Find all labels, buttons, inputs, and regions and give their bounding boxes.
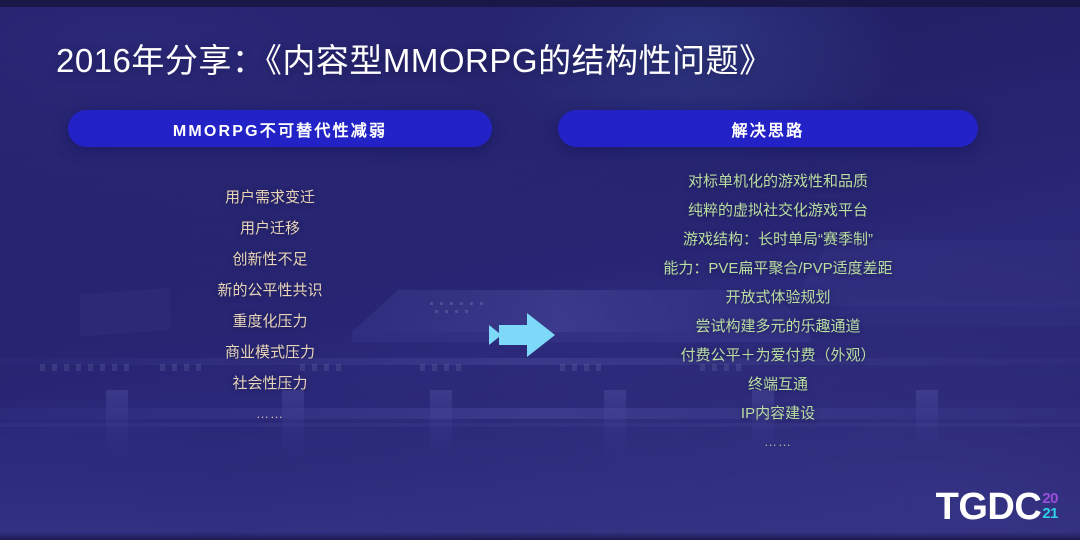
list-item: IP内容建设	[568, 406, 988, 421]
slide-root: 2016年分享：《内容型MMORPG的结构性问题》 MMORPG不可替代性减弱 …	[0, 0, 1080, 540]
list-item: 新的公平性共识	[68, 283, 472, 298]
list-item: 付费公平＋为爱付费（外观）	[568, 348, 988, 363]
list-item: 社会性压力	[68, 376, 472, 391]
list-item-ellipsis: ……	[68, 407, 472, 420]
logo-year-top: 20	[1042, 491, 1058, 506]
tgdc-logo: TGDC 20 21	[936, 488, 1058, 526]
left-column-list: 用户需求变迁 用户迁移 创新性不足 新的公平性共识 重度化压力 商业模式压力 社…	[68, 190, 472, 420]
arrow-right-icon	[489, 311, 555, 359]
logo-year: 20 21	[1042, 491, 1058, 521]
list-item: 纯粹的虚拟社交化游戏平台	[568, 203, 988, 218]
list-item: 用户迁移	[68, 221, 472, 236]
list-item-ellipsis: ……	[568, 435, 988, 448]
list-item: 创新性不足	[68, 252, 472, 267]
right-column-list: 对标单机化的游戏性和品质 纯粹的虚拟社交化游戏平台 游戏结构：长时单局“赛季制”…	[568, 174, 988, 448]
list-item: 能力：PVE扁平聚合/PVP适度差距	[568, 261, 988, 276]
list-item: 对标单机化的游戏性和品质	[568, 174, 988, 189]
list-item: 用户需求变迁	[68, 190, 472, 205]
list-item: 尝试构建多元的乐趣通道	[568, 319, 988, 334]
list-item: 终端互通	[568, 377, 988, 392]
list-item: 重度化压力	[68, 314, 472, 329]
logo-wordmark: TGDC	[936, 488, 1042, 526]
logo-year-bottom: 21	[1042, 506, 1058, 521]
list-item: 开放式体验规划	[568, 290, 988, 305]
page-title: 2016年分享：《内容型MMORPG的结构性问题》	[56, 34, 773, 82]
column-heading-right: 解决思路	[558, 110, 978, 147]
top-edge-band	[0, 0, 1080, 7]
list-item: 游戏结构：长时单局“赛季制”	[568, 232, 988, 247]
list-item: 商业模式压力	[68, 345, 472, 360]
bottom-edge-band	[0, 532, 1080, 540]
column-heading-left: MMORPG不可替代性减弱	[68, 110, 492, 147]
